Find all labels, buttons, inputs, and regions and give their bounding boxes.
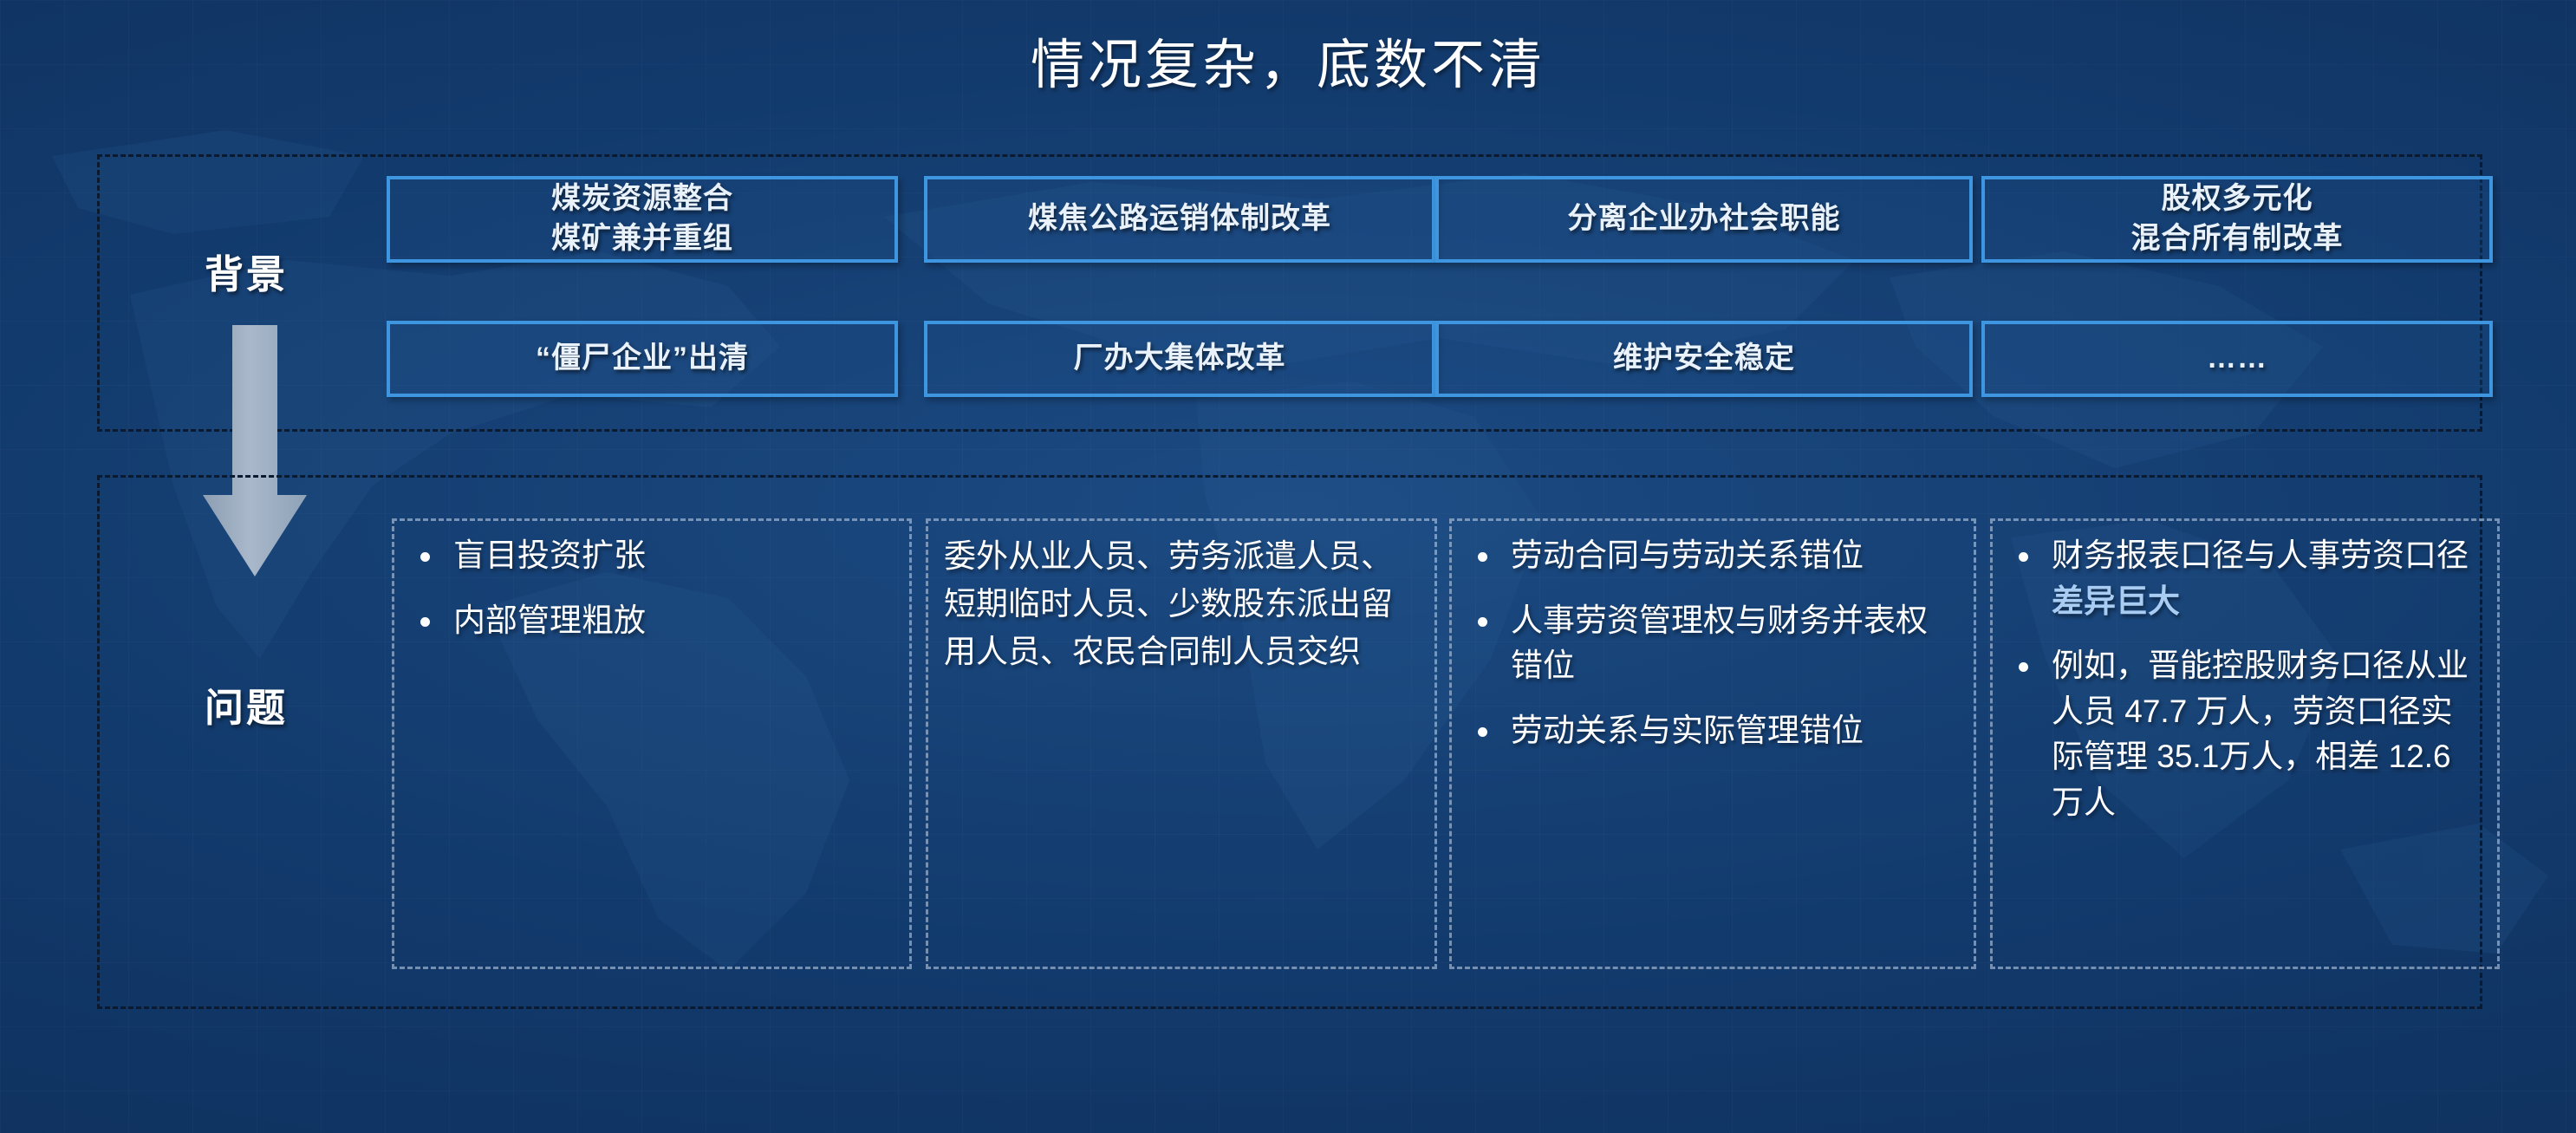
list-item: 例如，晋能控股财务口径从业人员 47.7 万人，劳资口径实际管理 35.1万人，… — [2008, 643, 2482, 825]
background-box-8-line1: …… — [2207, 339, 2267, 379]
list-item-text: 例如，晋能控股财务口径从业人员 47.7 万人，劳资口径实际管理 35.1万人，… — [2052, 648, 2469, 820]
page-title: 情况复杂，底数不清 — [0, 21, 2576, 99]
list-item-text: 财务报表口径与人事劳资口径 — [2052, 537, 2469, 573]
background-box-5-line1: “僵尸企业”出清 — [536, 339, 749, 379]
list-item: 劳动关系与实际管理错位 — [1467, 708, 1958, 754]
background-box-2[interactable]: 煤焦公路运销体制改革 — [924, 176, 1435, 263]
background-box-7-line1: 维护安全稳定 — [1613, 339, 1795, 379]
background-box-1-line2: 煤矿兼并重组 — [551, 222, 733, 255]
background-box-1-line1: 煤炭资源整合 — [551, 182, 733, 215]
background-box-7[interactable]: 维护安全稳定 — [1435, 321, 1973, 397]
problem-column-3: 劳动合同与劳动关系错位 人事劳资管理权与财务并表权错位 劳动关系与实际管理错位 — [1449, 518, 1976, 969]
problem-column-2: 委外从业人员、劳务派遣人员、短期临时人员、少数股东派出留用人员、农民合同制人员交… — [926, 518, 1437, 969]
list-item: 盲目投资扩张 — [410, 533, 894, 579]
background-box-6-line1: 厂办大集体改革 — [1074, 339, 1286, 379]
section-label-background: 背景 — [205, 243, 288, 299]
problem-column-1-list: 盲目投资扩张 内部管理粗放 — [410, 533, 894, 643]
list-item: 财务报表口径与人事劳资口径差异巨大 — [2008, 533, 2482, 624]
background-box-4-line1: 股权多元化 — [2162, 182, 2313, 215]
list-item: 人事劳资管理权与财务并表权错位 — [1467, 598, 1958, 689]
background-box-4[interactable]: 股权多元化 混合所有制改革 — [1981, 176, 2493, 263]
background-box-6[interactable]: 厂办大集体改革 — [924, 321, 1435, 397]
background-box-4-line2: 混合所有制改革 — [2131, 222, 2344, 255]
list-item: 劳动合同与劳动关系错位 — [1467, 533, 1958, 579]
background-box-3-line1: 分离企业办社会职能 — [1568, 199, 1841, 239]
background-box-8[interactable]: …… — [1981, 321, 2493, 397]
background-box-5[interactable]: “僵尸企业”出清 — [387, 321, 898, 397]
problem-column-2-text: 委外从业人员、劳务派遣人员、短期临时人员、少数股东派出留用人员、农民合同制人员交… — [944, 533, 1419, 675]
background-box-1[interactable]: 煤炭资源整合 煤矿兼并重组 — [387, 176, 898, 263]
background-box-2-line1: 煤焦公路运销体制改革 — [1028, 199, 1331, 239]
problem-column-1: 盲目投资扩张 内部管理粗放 — [392, 518, 912, 969]
problem-column-4: 财务报表口径与人事劳资口径差异巨大 例如，晋能控股财务口径从业人员 47.7 万… — [1990, 518, 2500, 969]
background-box-3[interactable]: 分离企业办社会职能 — [1435, 176, 1973, 263]
section-label-problem: 问题 — [205, 676, 288, 733]
problem-column-4-list: 财务报表口径与人事劳资口径差异巨大 例如，晋能控股财务口径从业人员 47.7 万… — [2008, 533, 2482, 825]
problem-column-3-list: 劳动合同与劳动关系错位 人事劳资管理权与财务并表权错位 劳动关系与实际管理错位 — [1467, 533, 1958, 753]
list-item: 内部管理粗放 — [410, 598, 894, 644]
list-item-highlight: 差异巨大 — [2052, 583, 2180, 619]
